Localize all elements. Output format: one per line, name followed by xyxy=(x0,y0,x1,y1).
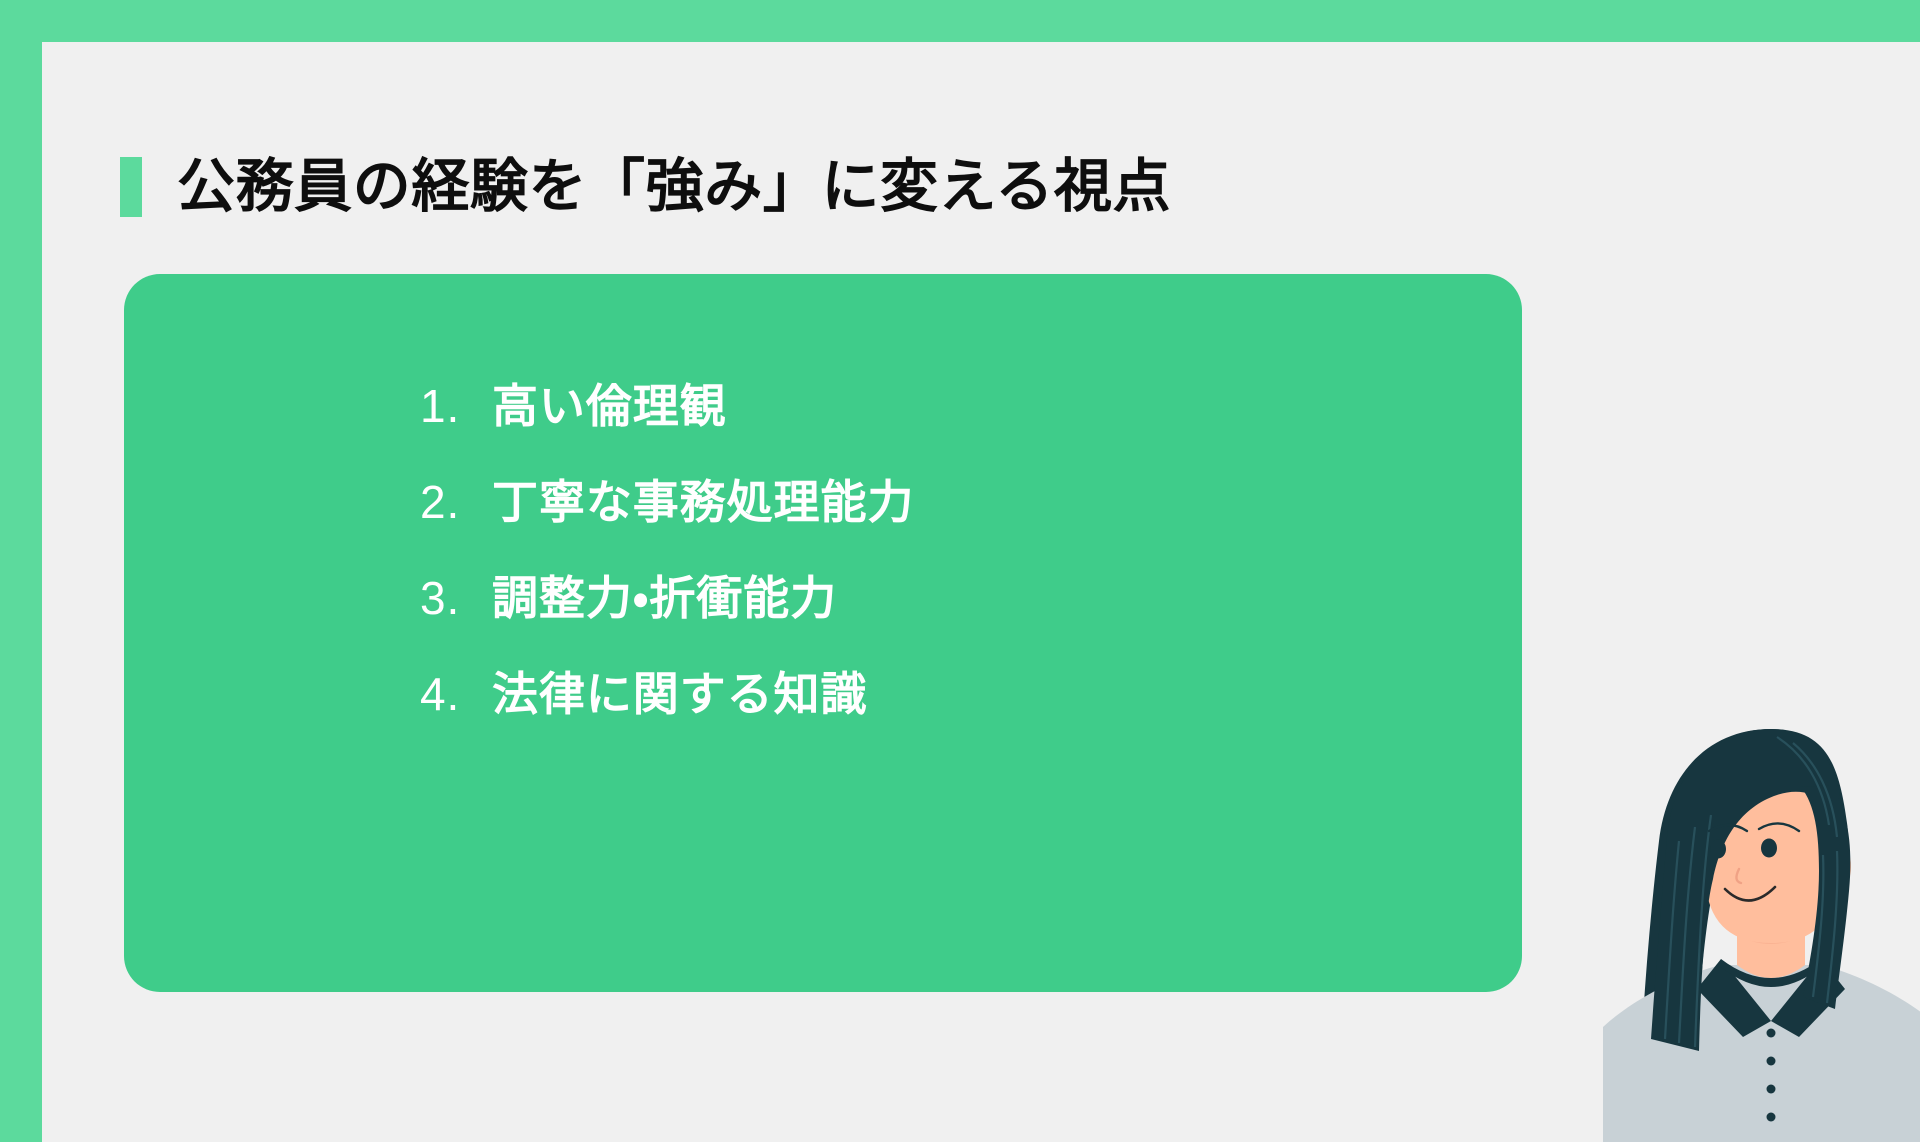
content-card: 1. 高い倫理観 2. 丁寧な事務処理能力 3. 調整力・折衝能力 4. 法律に… xyxy=(124,274,1522,992)
slide-canvas: 公務員の経験を「強み」に変える視点 1. 高い倫理観 2. 丁寧な事務処理能力 … xyxy=(42,42,1920,1142)
list-item-number: 2. xyxy=(420,454,492,550)
list-item: 1. 高い倫理観 xyxy=(124,358,1522,454)
title-accent-bar xyxy=(120,157,142,217)
list-item: 3. 調整力・折衝能力 xyxy=(124,550,1522,646)
eye-left xyxy=(1710,840,1726,859)
list-item-number: 4. xyxy=(420,646,492,742)
points-list: 1. 高い倫理観 2. 丁寧な事務処理能力 3. 調整力・折衝能力 4. 法律に… xyxy=(124,358,1522,742)
list-item-label: 調整力・折衝能力 xyxy=(492,550,837,646)
list-item-number: 3. xyxy=(420,550,492,646)
list-item-label: 丁寧な事務処理能力 xyxy=(492,454,914,550)
list-item-number: 1. xyxy=(420,358,492,454)
list-item: 4. 法律に関する知識 xyxy=(124,646,1522,742)
list-item-label: 高い倫理観 xyxy=(492,358,727,454)
eye-right xyxy=(1761,839,1777,858)
blouse-button xyxy=(1767,1085,1776,1094)
slide-frame: 公務員の経験を「強み」に変える視点 1. 高い倫理観 2. 丁寧な事務処理能力 … xyxy=(0,0,1920,1121)
woman-portrait-illustration xyxy=(1601,721,1920,1142)
title-row: 公務員の経験を「強み」に変える視点 xyxy=(120,142,1171,232)
blouse-button xyxy=(1767,1113,1776,1122)
blouse-button xyxy=(1767,1057,1776,1066)
blouse-button xyxy=(1767,1029,1776,1038)
list-item-label: 法律に関する知識 xyxy=(492,646,867,742)
list-item: 2. 丁寧な事務処理能力 xyxy=(124,454,1522,550)
page-title: 公務員の経験を「強み」に変える視点 xyxy=(177,158,1171,216)
